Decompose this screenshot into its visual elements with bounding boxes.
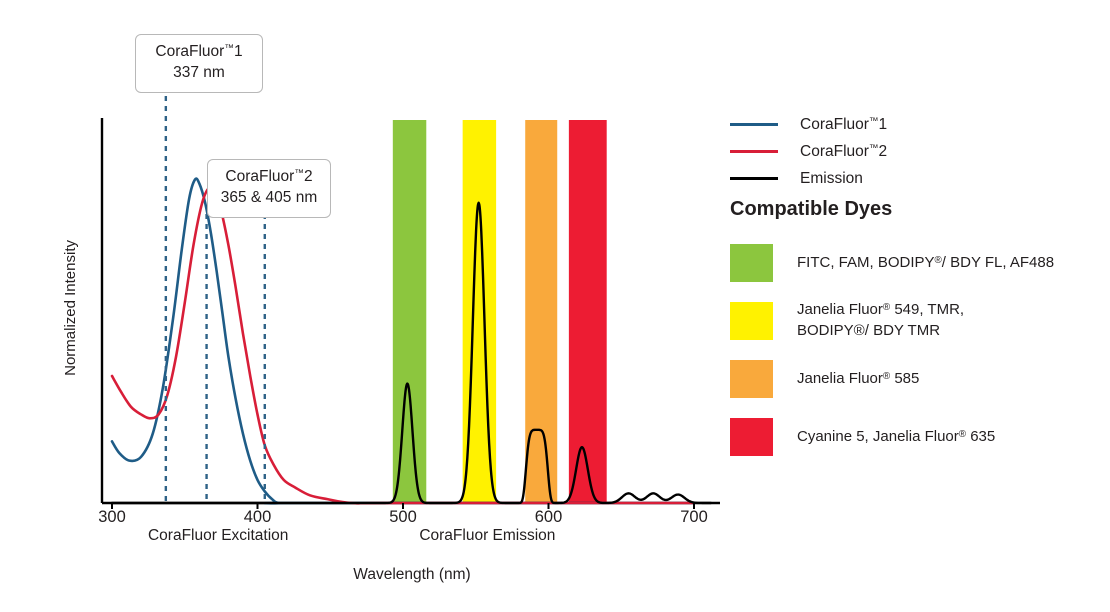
dye-color-swatch — [730, 360, 773, 398]
callout-corafluor2-value: 365 & 405 nm — [220, 188, 318, 209]
legend-label-corafluor1: CoraFluor™1 — [800, 116, 887, 134]
registered-symbol: ® — [883, 371, 890, 382]
registered-symbol: ® — [959, 429, 966, 440]
dye-row: Janelia Fluor® 549, TMR,BODIPY®/ BDY TMR — [730, 292, 1110, 350]
trademark-symbol: ™ — [869, 116, 879, 127]
dye-row: Janelia Fluor® 585 — [730, 350, 1110, 408]
x-axis-title: Wavelength (nm) — [353, 566, 470, 584]
chart-plot-area: Normalized Intensity Wavelength (nm) Cor… — [0, 0, 730, 612]
callout-corafluor2: CoraFluor™2 365 & 405 nm — [207, 159, 331, 218]
trademark-symbol: ™ — [869, 143, 879, 154]
dye-row: Cyanine 5, Janelia Fluor® 635 — [730, 408, 1110, 466]
dye-row: FITC, FAM, BODIPY®/ BDY FL, AF488 — [730, 234, 1110, 292]
x-tick-label-400: 400 — [244, 508, 272, 527]
registered-symbol: ® — [883, 302, 890, 313]
legend-line-swatch-corafluor2 — [730, 150, 778, 153]
legend-line-swatch-emission — [730, 177, 778, 180]
x-tick-label-300: 300 — [98, 508, 126, 527]
curve-legend: CoraFluor™1 CoraFluor™2 Emission — [730, 111, 1060, 192]
legend-line-swatch-corafluor1 — [730, 123, 778, 126]
dye-color-swatch — [730, 244, 773, 282]
dye-label: Cyanine 5, Janelia Fluor® 635 — [797, 427, 995, 448]
compatible-dyes-list: FITC, FAM, BODIPY®/ BDY FL, AF488Janelia… — [730, 234, 1110, 466]
dye-label: Janelia Fluor® 585 — [797, 369, 919, 390]
dye-color-swatch — [730, 418, 773, 456]
y-axis-title: Normalized Intensity — [62, 240, 79, 376]
sublabel-excitation: CoraFluor Excitation — [148, 527, 288, 545]
compatible-dyes-heading: Compatible Dyes — [730, 198, 892, 221]
trademark-symbol: ™ — [294, 168, 304, 179]
legend-label-corafluor2: CoraFluor™2 — [800, 143, 887, 161]
dye-label: FITC, FAM, BODIPY®/ BDY FL, AF488 — [797, 253, 1054, 274]
registered-symbol: ® — [935, 255, 942, 266]
orange-band — [525, 120, 557, 503]
sublabel-emission: CoraFluor Emission — [419, 527, 555, 545]
red-band — [569, 120, 607, 503]
legend-item-corafluor1: CoraFluor™1 — [730, 111, 1060, 138]
callout-corafluor2-title: CoraFluor™2 — [220, 167, 318, 188]
callout-corafluor1-value: 337 nm — [148, 63, 250, 84]
dye-color-swatch — [730, 302, 773, 340]
dye-label: Janelia Fluor® 549, TMR,BODIPY®/ BDY TMR — [797, 300, 964, 341]
legend-item-corafluor2: CoraFluor™2 — [730, 138, 1060, 165]
right-panel: CoraFluor™1 CoraFluor™2 Emission Compati… — [730, 0, 1110, 612]
trademark-symbol: ™ — [224, 43, 234, 54]
x-tick-label-600: 600 — [535, 508, 563, 527]
legend-label-emission: Emission — [800, 170, 863, 188]
x-tick-label-700: 700 — [680, 508, 708, 527]
legend-item-emission: Emission — [730, 165, 1060, 192]
callout-corafluor1-title: CoraFluor™1 — [148, 42, 250, 63]
callout-corafluor1: CoraFluor™1 337 nm — [135, 34, 263, 93]
x-tick-label-500: 500 — [389, 508, 417, 527]
green-band — [393, 120, 426, 503]
